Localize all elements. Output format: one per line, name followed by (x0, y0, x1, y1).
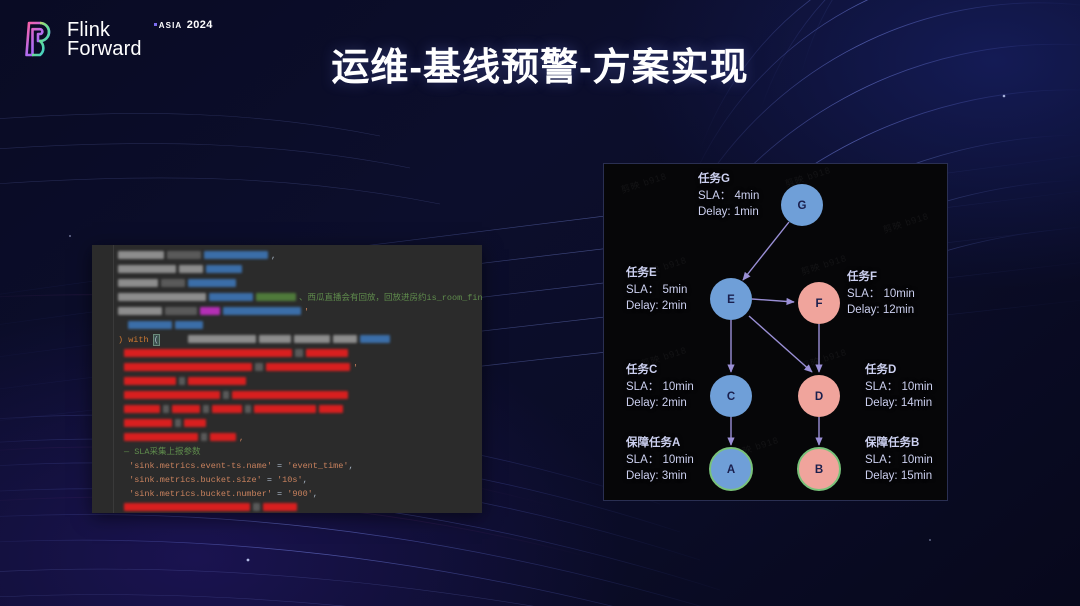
task-delay-value: 14min (901, 397, 932, 409)
task-delay-value: 3min (662, 470, 687, 482)
code-line-redacted: ' (118, 361, 482, 375)
task-delay-row: Delay: 14min (865, 395, 933, 412)
task-delay-value: 12min (883, 304, 914, 316)
slide-root: Flink Forward ASIA 2024 运维-基线预警-方案实现 , 、… (0, 0, 1080, 606)
task-sla-value: 10min (662, 381, 693, 393)
code-option-line: 'sink.metrics.bucket.size' = '10s', (118, 473, 482, 487)
task-sla-label: SLA： (626, 284, 659, 296)
code-option-key: 'sink.metrics.bucket.number' (129, 489, 272, 499)
logo-event-badge: ASIA 2024 (154, 16, 213, 33)
task-sla-row: SLA： 10min (865, 452, 933, 469)
task-info-C: 任务C SLA： 10min Delay: 2min (626, 362, 694, 412)
task-sla-value: 10min (901, 454, 932, 466)
task-info-A: 保障任务A SLA： 10min Delay: 3min (626, 435, 694, 485)
code-line-with-clause: ) with ( (118, 333, 482, 347)
node-E-label: E (727, 294, 735, 306)
task-sla-label: SLA： (626, 454, 659, 466)
code-line-redacted (118, 319, 482, 333)
task-delay-row: Delay: 3min (626, 468, 694, 485)
code-line-redacted: , (118, 249, 482, 263)
node-A-label: A (727, 464, 735, 476)
logo-badge-year: 2024 (187, 19, 213, 31)
logo-badge-region: ASIA (154, 21, 183, 30)
task-delay-row: Delay: 15min (865, 468, 933, 485)
edge-E-F (752, 299, 794, 302)
code-option-key: 'sink.metrics.event-ts.name' (129, 461, 272, 471)
task-sla-label: SLA： (865, 381, 898, 393)
task-sla-row: SLA： 5min (626, 282, 687, 299)
code-line-redacted (118, 277, 482, 291)
code-option-line: 'sink.metrics.event-ts.name' = 'event_ti… (118, 459, 482, 473)
node-F-label: F (815, 298, 822, 310)
task-sla-value: 4min (734, 190, 759, 202)
code-option-eq: = (267, 475, 272, 485)
code-option-eq: = (277, 461, 282, 471)
task-delay-label: Delay: (626, 470, 659, 482)
task-delay-label: Delay: (698, 206, 731, 218)
task-info-G: 任务G SLA： 4min Delay: 1min (698, 171, 759, 221)
task-delay-value: 1min (734, 206, 759, 218)
code-line-redacted (118, 501, 482, 513)
task-delay-label: Delay: (626, 397, 659, 409)
task-sla-label: SLA： (865, 454, 898, 466)
task-sla-row: SLA： 4min (698, 188, 759, 205)
code-line-redacted (118, 375, 482, 389)
task-sla-label: SLA： (698, 190, 731, 202)
task-sla-row: SLA： 10min (626, 452, 694, 469)
code-option-value: '10s' (277, 475, 303, 485)
code-line-redacted (118, 417, 482, 431)
task-sla-label: SLA： (626, 381, 659, 393)
task-delay-value: 2min (662, 397, 687, 409)
task-title: 任务C (626, 362, 694, 379)
task-delay-value: 2min (662, 300, 687, 312)
code-line-redacted (118, 263, 482, 277)
task-delay-row: Delay: 1min (698, 204, 759, 221)
task-info-E: 任务E SLA： 5min Delay: 2min (626, 265, 687, 315)
code-line-redacted: ' (118, 305, 482, 319)
task-delay-row: Delay: 2min (626, 395, 694, 412)
task-title: 保障任务A (626, 435, 694, 452)
code-line-redacted (118, 347, 482, 361)
code-option-line: 'sink.metrics.bucket.number' = '900', (118, 487, 482, 501)
diagram-nodes: G E F C D A B (710, 184, 840, 490)
edge-E-D (749, 316, 812, 372)
task-sla-value: 10min (901, 381, 932, 393)
code-screenshot-panel: , 、西瓜直播会有回放，回放进房约is_room_finished=1 ' ) … (92, 245, 482, 513)
code-inline-comment: 、西瓜直播会有回放，回放进房约is_room_finished=1 (299, 293, 482, 303)
task-sla-row: SLA： 10min (865, 379, 933, 396)
code-option-comma: , (303, 475, 308, 485)
task-title: 任务F (847, 269, 915, 286)
code-option-value: '900' (287, 489, 313, 499)
code-option-key: 'sink.metrics.bucket.size' (129, 475, 262, 485)
code-body: , 、西瓜直播会有回放，回放进房约is_room_finished=1 ' ) … (114, 245, 482, 513)
code-line-redacted (118, 403, 482, 417)
task-title: 任务E (626, 265, 687, 282)
sla-dependency-diagram-panel: 剪映 b918 剪映 b918 剪映 b918 剪映 b918 剪映 b918 … (603, 163, 948, 501)
task-title: 任务G (698, 171, 759, 188)
page-title: 运维-基线预警-方案实现 (0, 36, 1080, 91)
task-sla-row: SLA： 10min (847, 286, 915, 303)
task-sla-value: 10min (883, 288, 914, 300)
task-title: 任务D (865, 362, 933, 379)
task-sla-label: SLA： (847, 288, 880, 300)
code-with-keyword: ) with (118, 335, 149, 345)
edge-G-E (743, 222, 789, 280)
code-sla-comment: — SLA采集上报参数 (124, 447, 201, 457)
code-sla-comment-line: — SLA采集上报参数 (118, 445, 482, 459)
code-option-comma: , (348, 461, 353, 471)
task-delay-label: Delay: (847, 304, 880, 316)
node-D-label: D (815, 391, 823, 403)
task-info-F: 任务F SLA： 10min Delay: 12min (847, 269, 915, 319)
code-line-redacted-with-comment: 、西瓜直播会有回放，回放进房约is_room_finished=1 (118, 291, 482, 305)
task-sla-row: SLA： 10min (626, 379, 694, 396)
code-line-redacted (118, 389, 482, 403)
code-gutter (92, 245, 114, 513)
code-line-redacted: , (118, 431, 482, 445)
task-delay-label: Delay: (626, 300, 659, 312)
task-delay-label: Delay: (865, 397, 898, 409)
task-sla-value: 10min (662, 454, 693, 466)
task-title: 保障任务B (865, 435, 933, 452)
code-open-paren: ( (154, 335, 159, 345)
task-sla-value: 5min (662, 284, 687, 296)
node-G-label: G (798, 200, 807, 212)
task-delay-row: Delay: 12min (847, 302, 915, 319)
code-option-value: 'event_time' (287, 461, 348, 471)
code-option-eq: = (277, 489, 282, 499)
node-C-label: C (727, 391, 735, 403)
task-delay-row: Delay: 2min (626, 298, 687, 315)
node-B-label: B (815, 464, 823, 476)
code-option-comma: , (313, 489, 318, 499)
task-info-D: 任务D SLA： 10min Delay: 14min (865, 362, 933, 412)
task-delay-label: Delay: (865, 470, 898, 482)
task-delay-value: 15min (901, 470, 932, 482)
task-info-B: 保障任务B SLA： 10min Delay: 15min (865, 435, 933, 485)
